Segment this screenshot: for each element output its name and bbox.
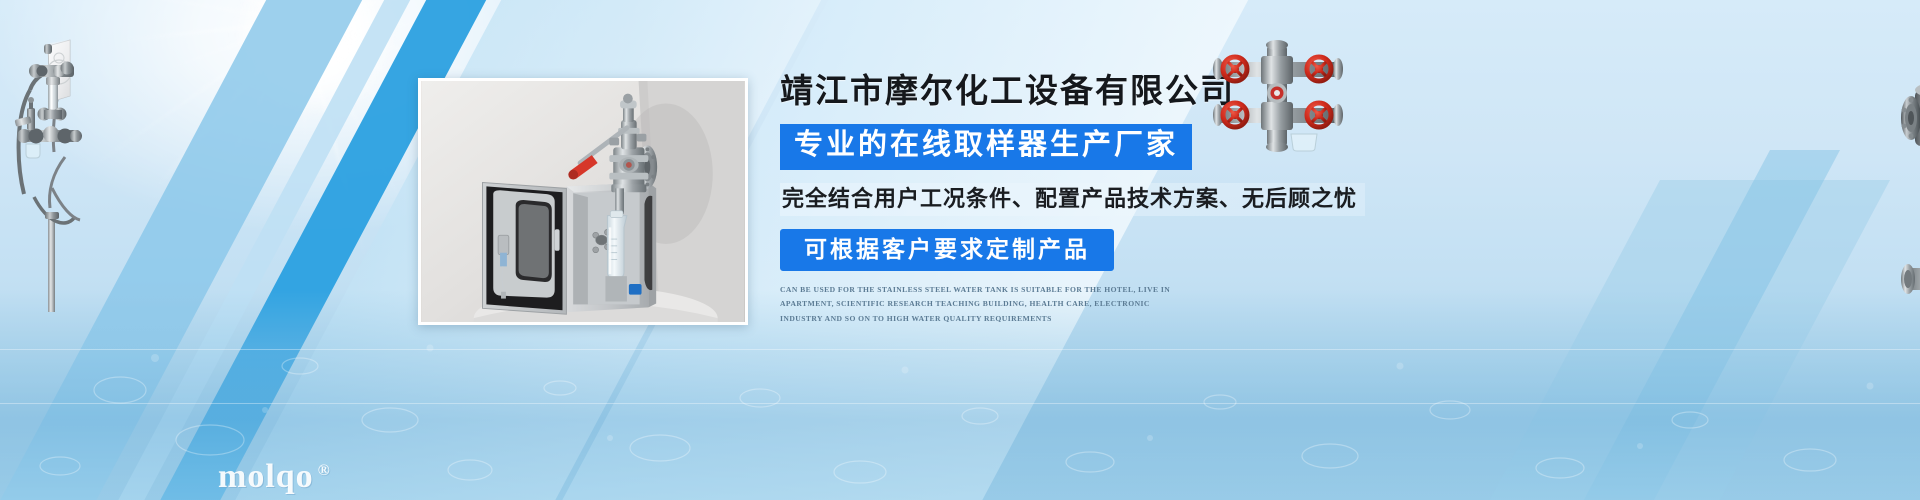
right-product-inline-sampler [1900, 232, 1920, 412]
watermark-registered-mark: ® [318, 462, 331, 479]
right-product-flanged-valve [1885, 24, 1920, 209]
center-product-photo [418, 78, 748, 325]
headline-highlight-bar: 专业的在线取样器生产厂家 [780, 124, 1192, 169]
headline-text: 专业的在线取样器生产厂家 [794, 129, 1178, 161]
cta-label: 可根据客户要求定制产品 [804, 236, 1090, 262]
watermark-logo: molqo® [218, 458, 331, 496]
left-product-image [10, 22, 190, 312]
promo-banner: 靖江市摩尔化工设备有限公司 专业的在线取样器生产厂家 完全结合用户工况条件、配置… [0, 0, 1920, 500]
subheadline-text: 完全结合用户工况条件、配置产品技术方案、无后顾之忧 [780, 183, 1365, 216]
right-product-valve-manifold [1205, 38, 1365, 153]
watermark-text: molqo [218, 458, 314, 495]
cta-badge[interactable]: 可根据客户要求定制产品 [780, 229, 1114, 271]
english-description: CAN BE USED FOR THE STAINLESS STEEL WATE… [780, 283, 1180, 325]
product-photo-illustration [421, 81, 745, 322]
